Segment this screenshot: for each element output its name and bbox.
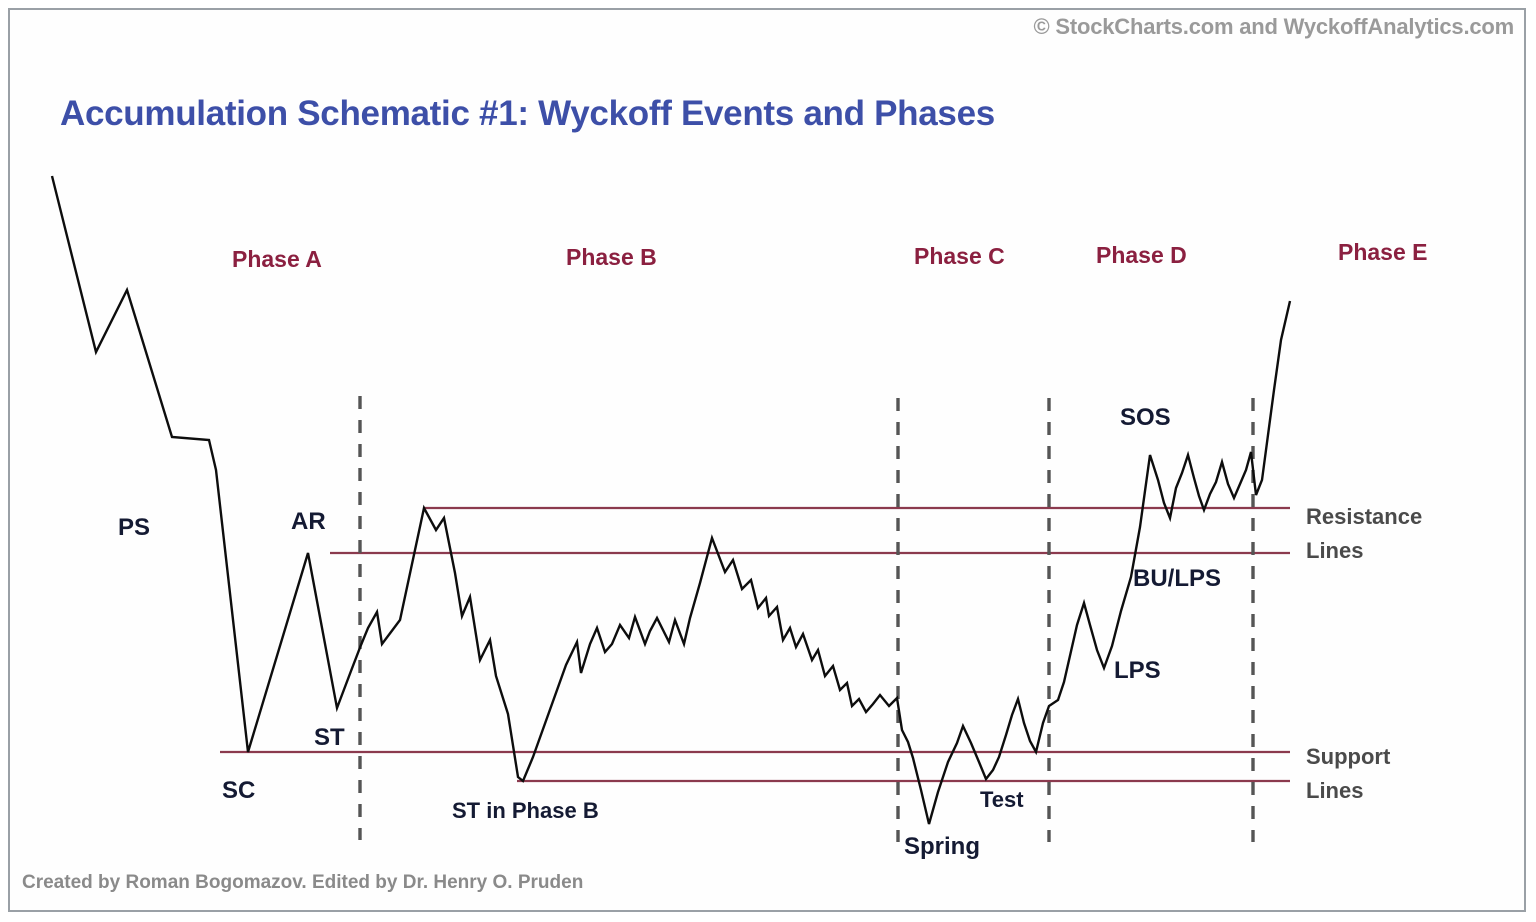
event-label-ar: AR xyxy=(291,508,326,536)
event-label-test: Test xyxy=(980,787,1024,813)
event-label-spring: Spring xyxy=(904,833,980,861)
event-label-st-phase-b: ST in Phase B xyxy=(452,798,599,824)
event-label-ps: PS xyxy=(118,514,150,542)
side-label-line2: Lines xyxy=(1306,534,1422,568)
horizontal-level-lines xyxy=(220,508,1290,781)
event-label-sc: SC xyxy=(222,777,255,805)
phase-label-phase-c: Phase C xyxy=(914,243,1005,270)
price-line xyxy=(52,176,1290,824)
schematic-canvas: © StockCharts.com and WyckoffAnalytics.c… xyxy=(0,0,1536,922)
event-label-lps: LPS xyxy=(1114,657,1161,685)
event-label-st: ST xyxy=(314,724,345,752)
event-label-bu-lps: BU/LPS xyxy=(1133,565,1221,593)
phase-label-phase-b: Phase B xyxy=(566,244,657,271)
side-label-line1: Resistance xyxy=(1306,500,1422,534)
phase-label-phase-a: Phase A xyxy=(232,246,322,273)
side-label-line1: Support xyxy=(1306,740,1390,774)
side-label-line2: Lines xyxy=(1306,774,1390,808)
side-label-support-lines: SupportLines xyxy=(1306,740,1390,808)
phase-label-phase-e: Phase E xyxy=(1338,239,1428,266)
side-label-resistance-lines: ResistanceLines xyxy=(1306,500,1422,568)
price-path-group xyxy=(52,176,1290,824)
phase-label-phase-d: Phase D xyxy=(1096,242,1187,269)
event-label-sos: SOS xyxy=(1120,404,1171,432)
author-credit: Created by Roman Bogomazov. Edited by Dr… xyxy=(22,872,583,894)
